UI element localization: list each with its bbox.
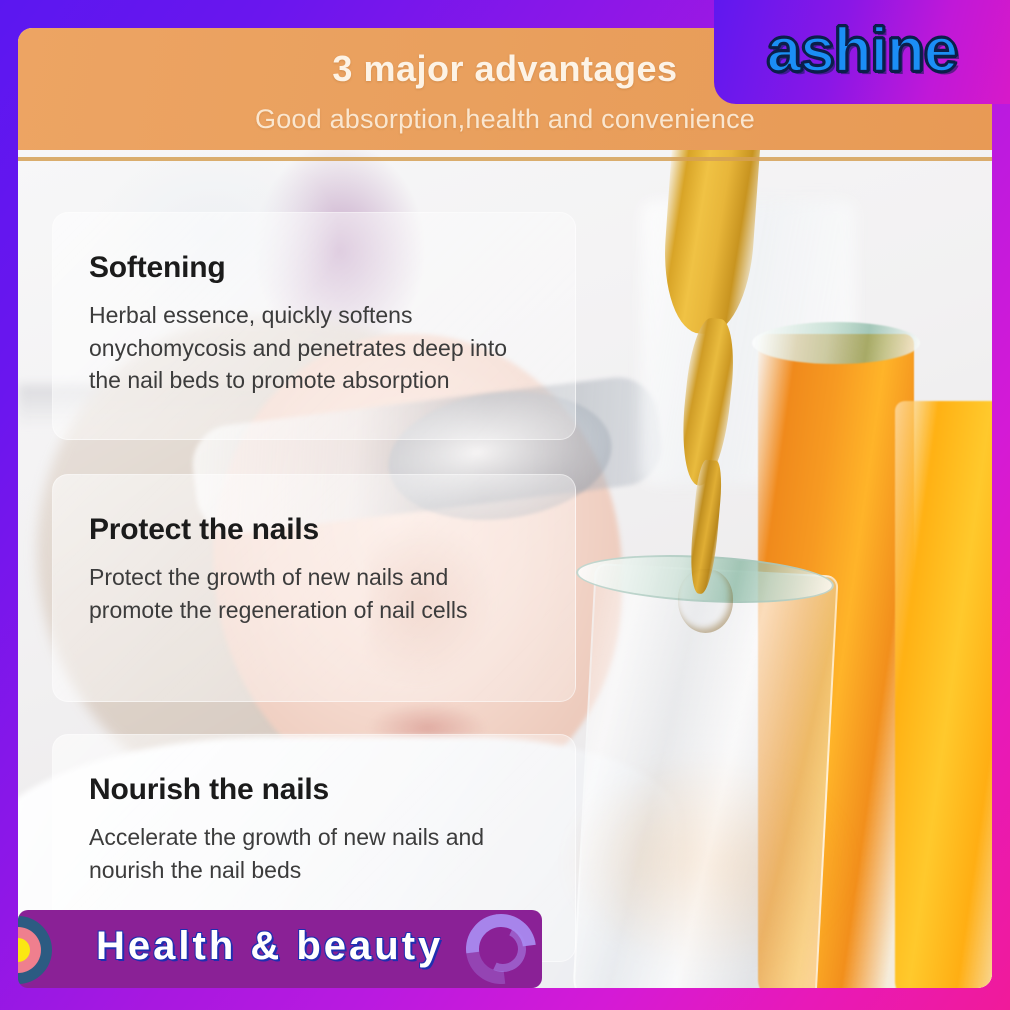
brand-banner: Health & beauty — [18, 910, 542, 988]
brand-tagline: Health & beauty — [96, 924, 443, 969]
photo-test-tube-yellow — [895, 401, 992, 988]
product-advantages-poster: 3 major advantages Good absorption,healt… — [0, 0, 1010, 1010]
brand-logo-ring-icon — [18, 927, 41, 973]
photo-test-tube-amber-rim — [752, 322, 920, 364]
feature-title: Softening — [89, 251, 539, 285]
feature-title: Nourish the nails — [89, 773, 539, 807]
feature-description: Herbal essence, quickly softens onychomy… — [89, 299, 539, 397]
feature-title: Protect the nails — [89, 513, 539, 547]
header-divider-gold-line — [18, 157, 992, 161]
page-subtitle: Good absorption,health and convenience — [18, 104, 992, 135]
seller-watermark-text: ashine — [767, 15, 957, 86]
feature-description: Protect the growth of new nails and prom… — [89, 561, 539, 626]
feature-card: Protect the nails Protect the growth of … — [52, 474, 576, 702]
feature-card: Softening Herbal essence, quickly soften… — [52, 212, 576, 440]
photo-oil-droplet — [678, 569, 733, 633]
brand-logo-core-icon — [18, 938, 30, 962]
brand-logo-icon — [18, 916, 52, 984]
seller-watermark-badge: ashine — [714, 0, 1010, 104]
feature-description: Accelerate the growth of new nails and n… — [89, 821, 539, 886]
poster-inner-panel: 3 major advantages Good absorption,healt… — [18, 28, 992, 988]
